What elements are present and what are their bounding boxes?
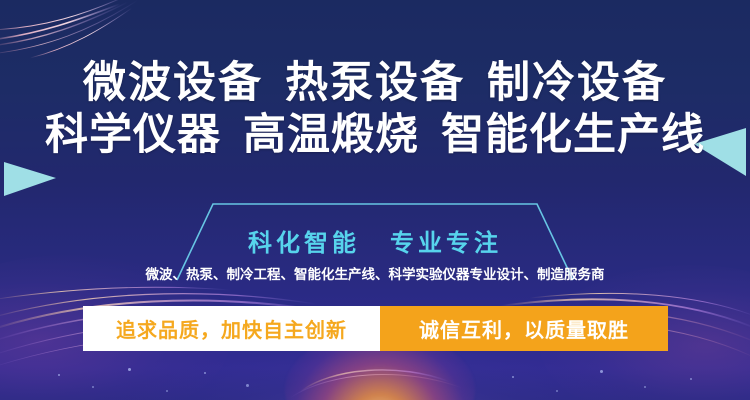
sparkle-dot xyxy=(690,378,692,380)
sparkle-dot xyxy=(600,370,603,373)
sparkle-dot xyxy=(556,390,558,392)
description-text: 微波、热泵、制冷工程、智能化生产线、科学实验仪器专业设计、制造服务商 xyxy=(0,263,750,283)
sparkle-dot xyxy=(128,368,131,371)
sparkle-dot xyxy=(204,372,206,374)
sparkle-dot xyxy=(246,384,249,387)
sparkle-dot xyxy=(644,386,646,388)
slogan-right[interactable]: 诚信互利，以质量取胜 xyxy=(380,306,668,351)
sparkle-dot xyxy=(166,390,168,392)
headline-line2-part1: 科学仪器 xyxy=(45,111,221,159)
headline-line1-part1: 微波设备 xyxy=(83,59,263,107)
headline-line2-part3: 智能化生产线 xyxy=(441,111,705,159)
subheadline-right: 专业专注 xyxy=(390,230,502,257)
sparkle-dot xyxy=(92,386,94,388)
headline-line1-part3: 制冷设备 xyxy=(487,59,667,107)
headline-line2-part2: 高温煅烧 xyxy=(243,111,419,159)
triangle-right-icon xyxy=(4,162,56,196)
headline: 微波设备热泵设备制冷设备 科学仪器高温煅烧智能化生产线 xyxy=(0,62,750,157)
promo-banner: 微波设备热泵设备制冷设备 科学仪器高温煅烧智能化生产线 科化智能专业专注 微波、… xyxy=(0,0,750,400)
slogan-bar-row: 追求品质，加快自主创新 诚信互利，以质量取胜 xyxy=(83,306,668,351)
sparkle-dot xyxy=(58,374,60,376)
headline-line1-part2: 热泵设备 xyxy=(285,59,465,107)
slogan-left[interactable]: 追求品质，加快自主创新 xyxy=(83,306,380,351)
subheadline: 科化智能专业专注 xyxy=(0,223,750,258)
subheadline-left: 科化智能 xyxy=(248,230,360,257)
sparkle-dot xyxy=(512,376,514,378)
background-glow-bottom xyxy=(120,350,640,400)
